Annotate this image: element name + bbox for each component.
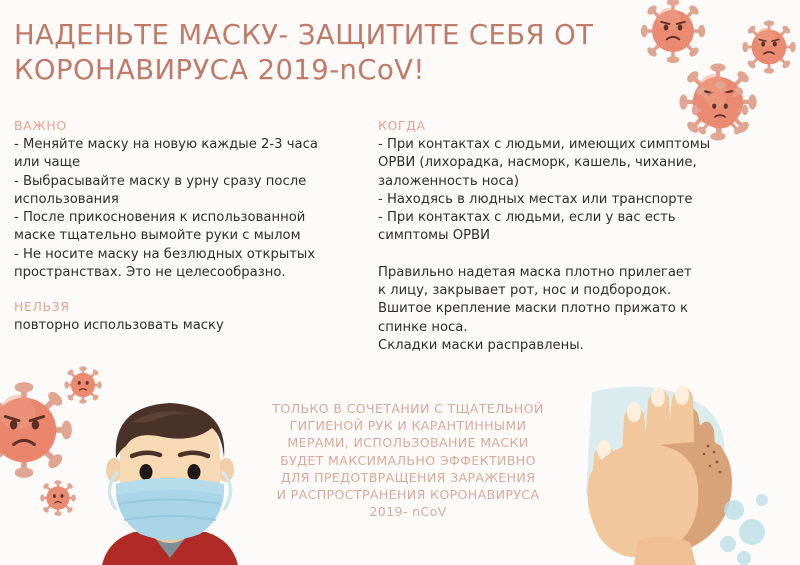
section-important-body: - Меняйте маску на новую каждые 2-3 часа… (14, 136, 374, 282)
masked-man-illustration (72, 392, 268, 565)
section-when-body: - При контактах с людьми, имеющих симпто… (378, 136, 782, 246)
left-column: ВАЖНО - Меняйте маску на новую каждые 2-… (14, 118, 374, 336)
section-forbidden: НЕЛЬЗЯ повторно использовать маску (14, 299, 374, 335)
infographic-poster: НАДЕНЬТЕ МАСКУ- ЗАЩИТИТЕ СЕБЯ ОТ КОРОНАВ… (0, 0, 800, 565)
section-forbidden-body: повторно использовать маску (14, 317, 374, 335)
footer-statement: ТОЛЬКО В СОЧЕТАНИИ С ТЩАТЕЛЬНОЙ ГИГИЕНОЙ… (248, 400, 568, 520)
handwashing-illustration (586, 382, 800, 565)
section-important: ВАЖНО - Меняйте маску на новую каждые 2-… (14, 118, 374, 282)
section-proper-fit-body: Правильно надетая маска плотно прилегает… (378, 264, 782, 355)
section-forbidden-heading: НЕЛЬЗЯ (14, 299, 374, 314)
virus-top-right-1 (638, 0, 708, 66)
right-column: КОГДА - При контактах с людьми, имеющих … (378, 118, 782, 355)
page-title: НАДЕНЬТЕ МАСКУ- ЗАЩИТИТЕ СЕБЯ ОТ КОРОНАВ… (14, 18, 654, 88)
section-important-heading: ВАЖНО (14, 118, 374, 133)
virus-right-mid (688, 78, 752, 142)
section-proper-fit: Правильно надетая маска плотно прилегает… (378, 264, 782, 355)
